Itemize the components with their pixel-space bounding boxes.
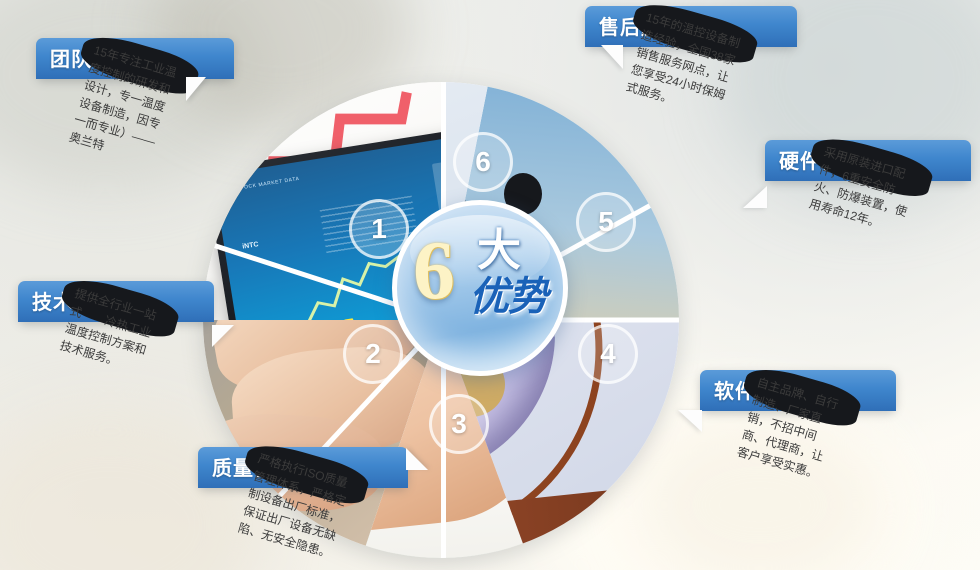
segment-number-4[interactable]: 4 (578, 324, 638, 384)
hub-text: 6 大 优势 (397, 205, 563, 371)
hub-word: 优势 (469, 277, 547, 317)
callout-tail (743, 186, 767, 208)
callout-after-sales[interactable]: 售后服务 15年的温控设备制造经验，全国38家销售服务网点，让您享受24小时保姆… (585, 6, 797, 47)
segment-number-1[interactable]: 1 (349, 199, 409, 259)
infographic-canvas: STOCK MARKET DATA iNTC (0, 0, 980, 570)
hub-unit: 大 (477, 229, 521, 273)
segment-number-6[interactable]: 6 (453, 132, 513, 192)
callout-tail (678, 410, 702, 432)
callout-tail (406, 448, 428, 470)
callout-tail (212, 325, 234, 347)
callout-quality[interactable]: 质量保证 严格执行ISO质量管理体系，严格定制设备出厂标准， 保证出厂设备无缺陷… (198, 447, 408, 488)
callout-software[interactable]: 软件服务 自主品牌、自行制造、厂家直销，不招中间商、代理商，让客户享受实惠。 (700, 370, 896, 411)
screen-title: STOCK MARKET DATA (236, 176, 300, 192)
segment-number-3[interactable]: 3 (429, 394, 489, 454)
callout-technical[interactable]: 技术服务 提供全行业一站式 冷热工业温度控制方案和技术服务。 (18, 281, 214, 322)
callout-tail (601, 45, 623, 69)
callout-team[interactable]: 团队优势 15年专注工业温度控制的研发和设计，专一温度设备制造，因专一而专业）—… (36, 38, 234, 79)
callout-tail (186, 77, 206, 101)
callout-hardware[interactable]: 硬件优势 采用原装进口配件，6重安全防火、防爆装置，使用寿命12年。 (765, 140, 971, 181)
hub-number: 6 (413, 229, 455, 313)
segment-number-5[interactable]: 5 (576, 192, 636, 252)
segment-number-2[interactable]: 2 (343, 324, 403, 384)
center-hub: 6 大 优势 (392, 200, 568, 376)
